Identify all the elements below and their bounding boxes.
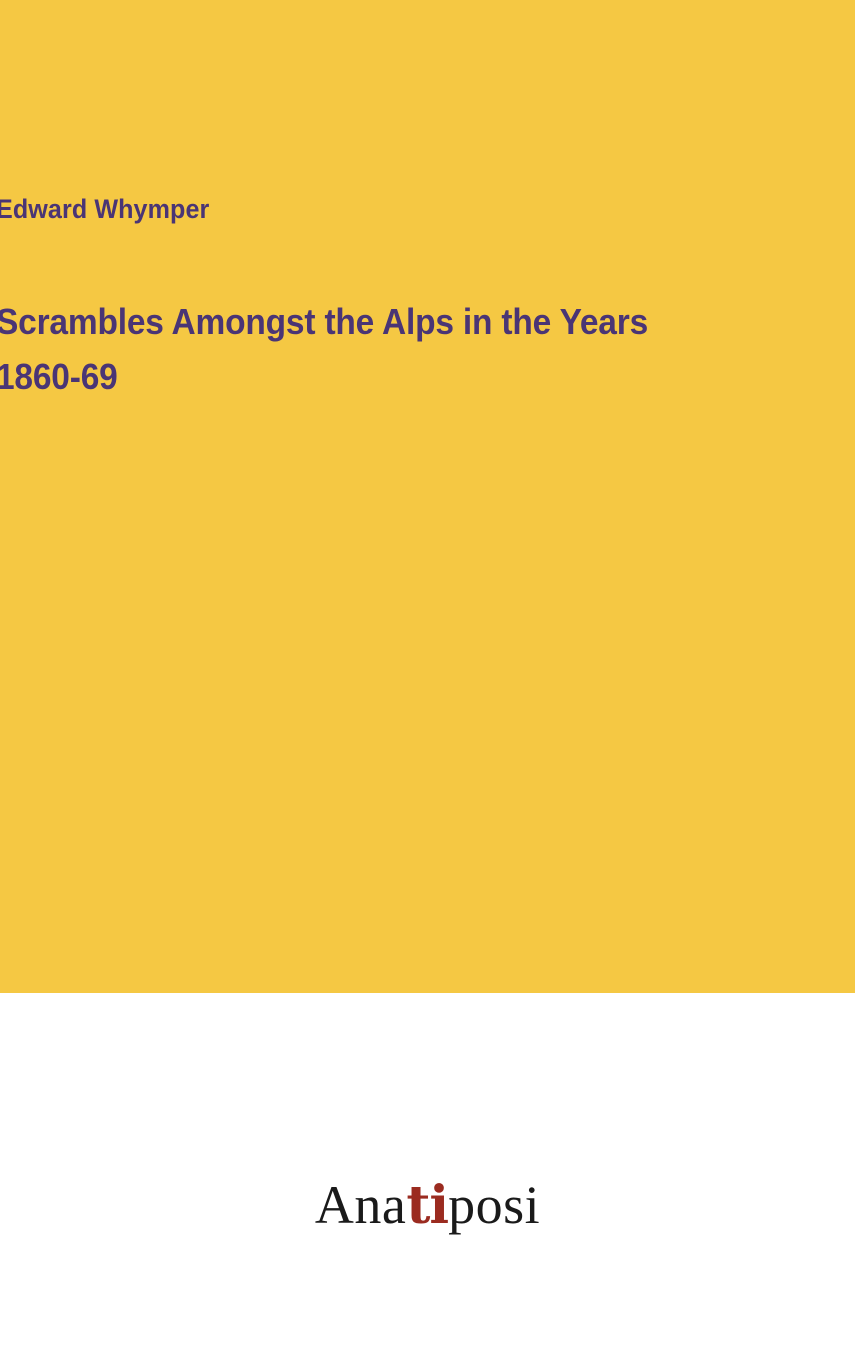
cover-text-block: Edward Whymper Scrambles Amongst the Alp… xyxy=(0,186,716,404)
publisher-logo-part-2: posi xyxy=(448,1175,540,1235)
publisher-logo-accent: ti xyxy=(406,1175,448,1236)
cover-color-panel xyxy=(0,0,855,993)
book-cover: Edward Whymper Scrambles Amongst the Alp… xyxy=(0,0,855,1360)
publisher-logo: Anatiposi xyxy=(0,1175,855,1236)
book-title-line-1: Scrambles Amongst the Alps in the Years xyxy=(0,294,666,349)
book-title-line-2: 1860-69 xyxy=(0,349,666,404)
author-name: Edward Whymper xyxy=(0,186,666,232)
book-title: Scrambles Amongst the Alps in the Years … xyxy=(0,294,666,404)
publisher-logo-part-1: Ana xyxy=(315,1175,406,1235)
